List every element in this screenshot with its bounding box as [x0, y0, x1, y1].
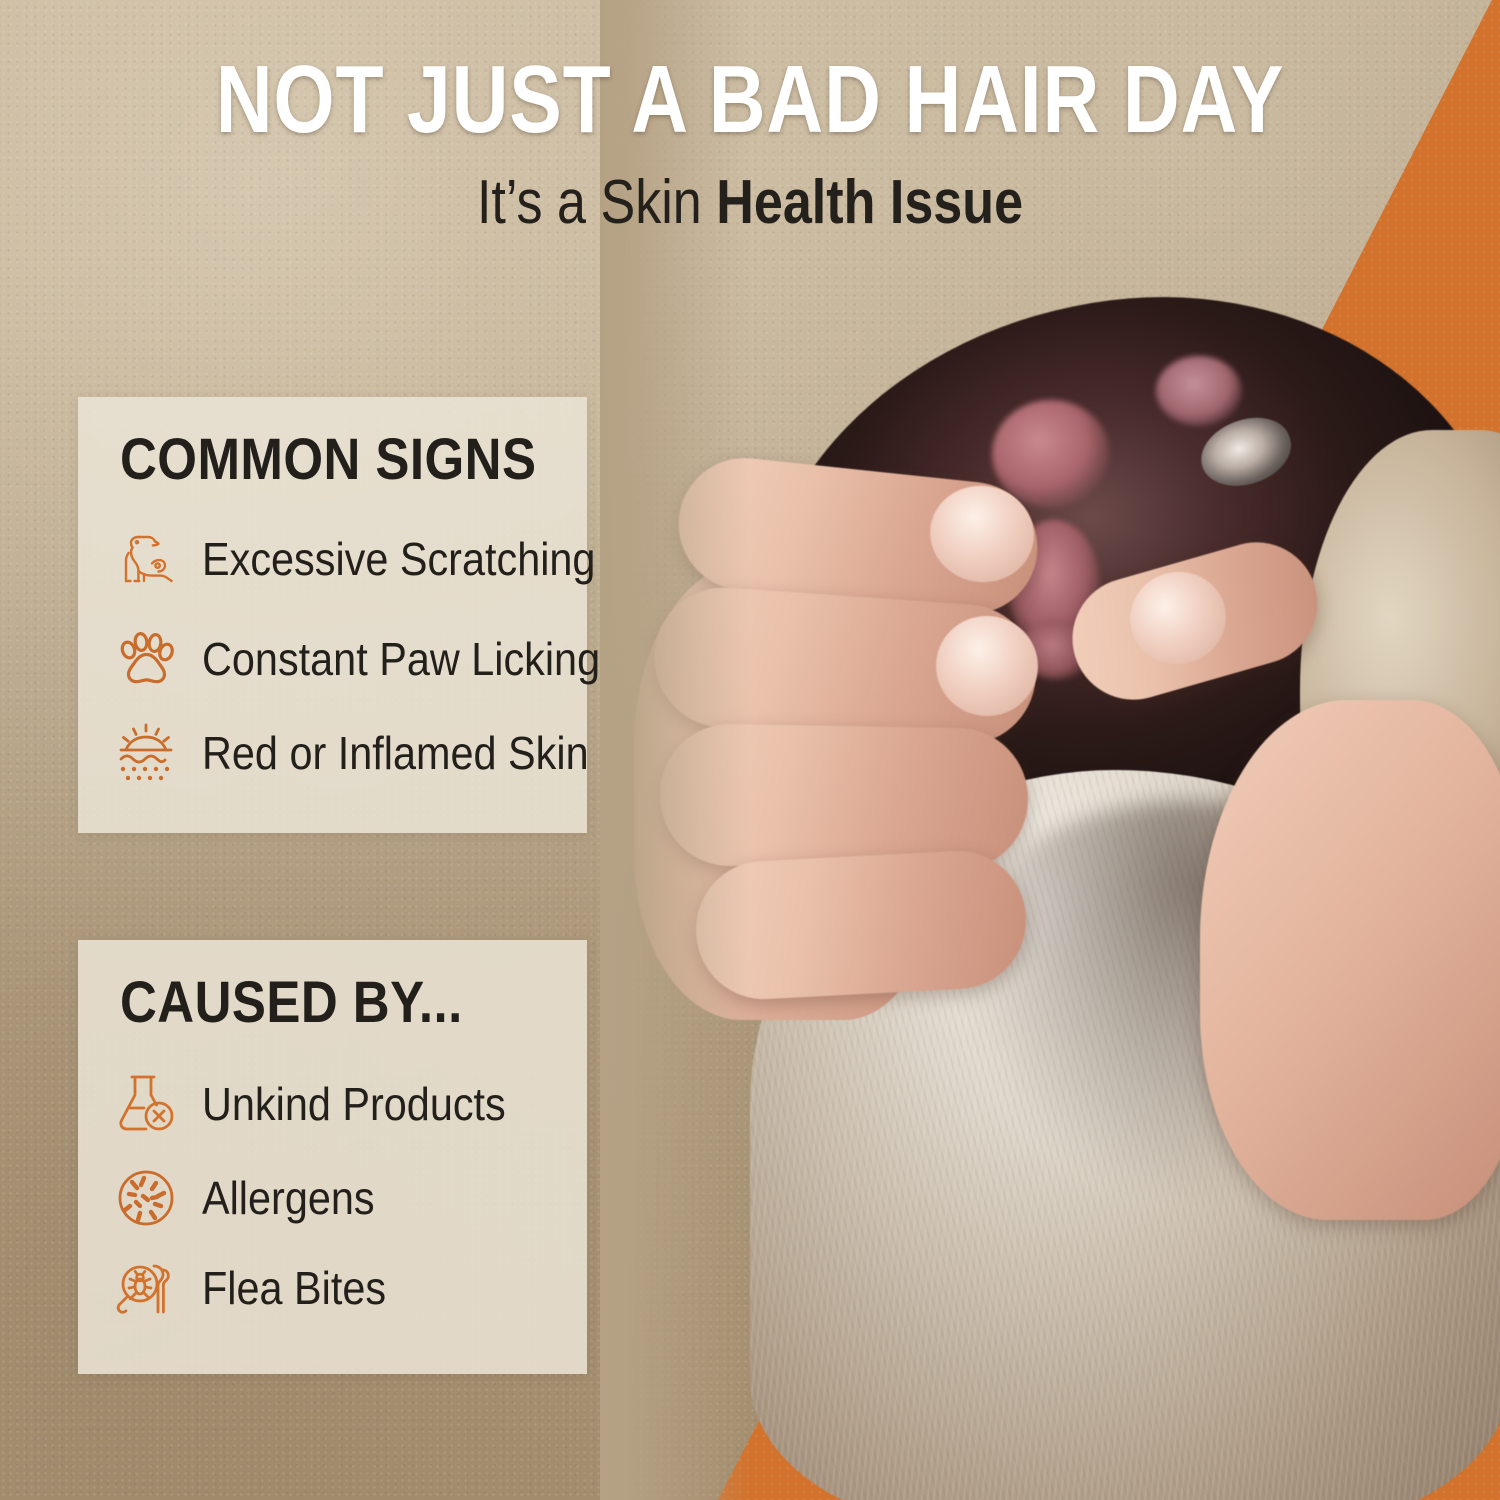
- list-item: Red or Inflamed Skin: [110, 717, 632, 789]
- list-item-label: Excessive Scratching: [202, 536, 595, 582]
- list-item-label: Unkind Products: [202, 1081, 506, 1127]
- page-title: NOT JUST A BAD HAIR DAY: [135, 52, 1365, 148]
- list-item: Unkind Products: [110, 1068, 540, 1140]
- list-item: Allergens: [110, 1162, 394, 1234]
- list-item: Constant Paw Licking: [110, 623, 644, 695]
- subtitle-bold-part: Health Issue: [716, 168, 1023, 237]
- list-item: Excessive Scratching: [110, 523, 639, 595]
- caused-by-card: CAUSED BY... Unkind Products: [78, 940, 587, 1374]
- paw-print-icon: [110, 623, 182, 695]
- list-item-label: Red or Inflamed Skin: [202, 730, 589, 776]
- inflamed-skin-icon: [110, 717, 182, 789]
- list-item: Flea Bites: [110, 1252, 407, 1324]
- page-subtitle: It’s a Skin Health Issue: [120, 172, 1380, 234]
- list-item-label: Allergens: [202, 1175, 375, 1221]
- list-item-label: Constant Paw Licking: [202, 636, 600, 682]
- caused-by-title: CAUSED BY...: [120, 974, 463, 1032]
- dog-scratching-icon: [110, 523, 182, 595]
- common-signs-card: COMMON SIGNS: [78, 397, 587, 833]
- flask-prohibited-icon: [110, 1068, 182, 1140]
- common-signs-title: COMMON SIGNS: [120, 431, 536, 489]
- list-item-label: Flea Bites: [202, 1265, 386, 1311]
- subtitle-light-part: It’s a Skin: [477, 168, 716, 237]
- allergen-microbes-icon: [110, 1162, 182, 1234]
- flea-magnifier-icon: [110, 1252, 182, 1324]
- infographic-poster: NOT JUST A BAD HAIR DAY It’s a Skin Heal…: [0, 0, 1500, 1500]
